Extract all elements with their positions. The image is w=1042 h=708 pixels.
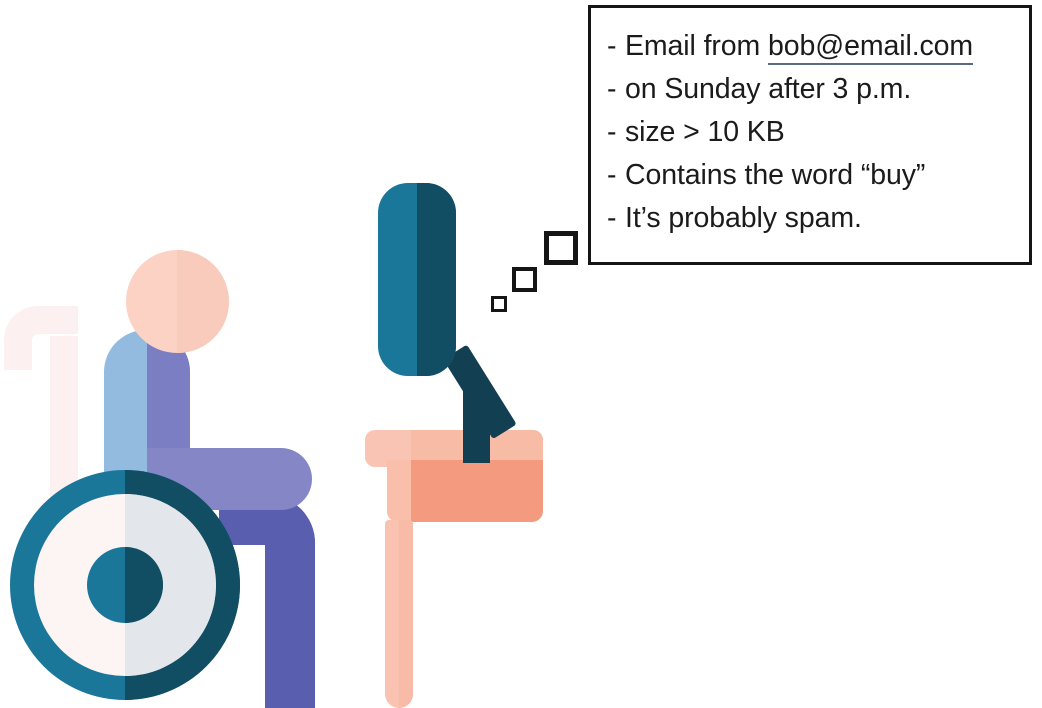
bullet-dash: - bbox=[607, 25, 625, 68]
email-rule-list: -Email from bob@email.com -on Sunday aft… bbox=[607, 25, 1023, 240]
bullet-text: It’s probably spam. bbox=[625, 202, 862, 234]
desk-body-highlight bbox=[387, 460, 411, 522]
email-address-link[interactable]: bob@email.com bbox=[768, 30, 973, 65]
email-rule-callout: -Email from bob@email.com -on Sunday aft… bbox=[588, 5, 1032, 265]
bullet-text: Email from bbox=[625, 30, 768, 62]
bullet-text: on Sunday after 3 p.m. bbox=[625, 73, 911, 105]
list-item: -Email from bob@email.com bbox=[607, 25, 1023, 68]
bullet-dash: - bbox=[607, 68, 625, 111]
desk-leg-shade bbox=[399, 520, 413, 708]
bullet-dash: - bbox=[607, 197, 625, 240]
bullet-text: size > 10 KB bbox=[625, 116, 785, 148]
person-head-shade bbox=[177, 250, 229, 353]
illustration-canvas: -Email from bob@email.com -on Sunday aft… bbox=[0, 0, 1042, 708]
bullet-text: Contains the word “buy” bbox=[625, 159, 925, 191]
thought-square-large-icon bbox=[544, 231, 578, 265]
list-item: -It’s probably spam. bbox=[607, 197, 1023, 240]
bullet-dash: - bbox=[607, 111, 625, 154]
monitor-screen-shade bbox=[417, 183, 456, 376]
person-lower-leg bbox=[265, 648, 315, 708]
thought-square-small-icon bbox=[491, 296, 507, 312]
monitor-stand-post bbox=[463, 388, 490, 463]
bullet-dash: - bbox=[607, 154, 625, 197]
list-item: -size > 10 KB bbox=[607, 111, 1023, 154]
list-item: -on Sunday after 3 p.m. bbox=[607, 68, 1023, 111]
thought-square-medium-icon bbox=[512, 267, 537, 292]
list-item: -Contains the word “buy” bbox=[607, 154, 1023, 197]
